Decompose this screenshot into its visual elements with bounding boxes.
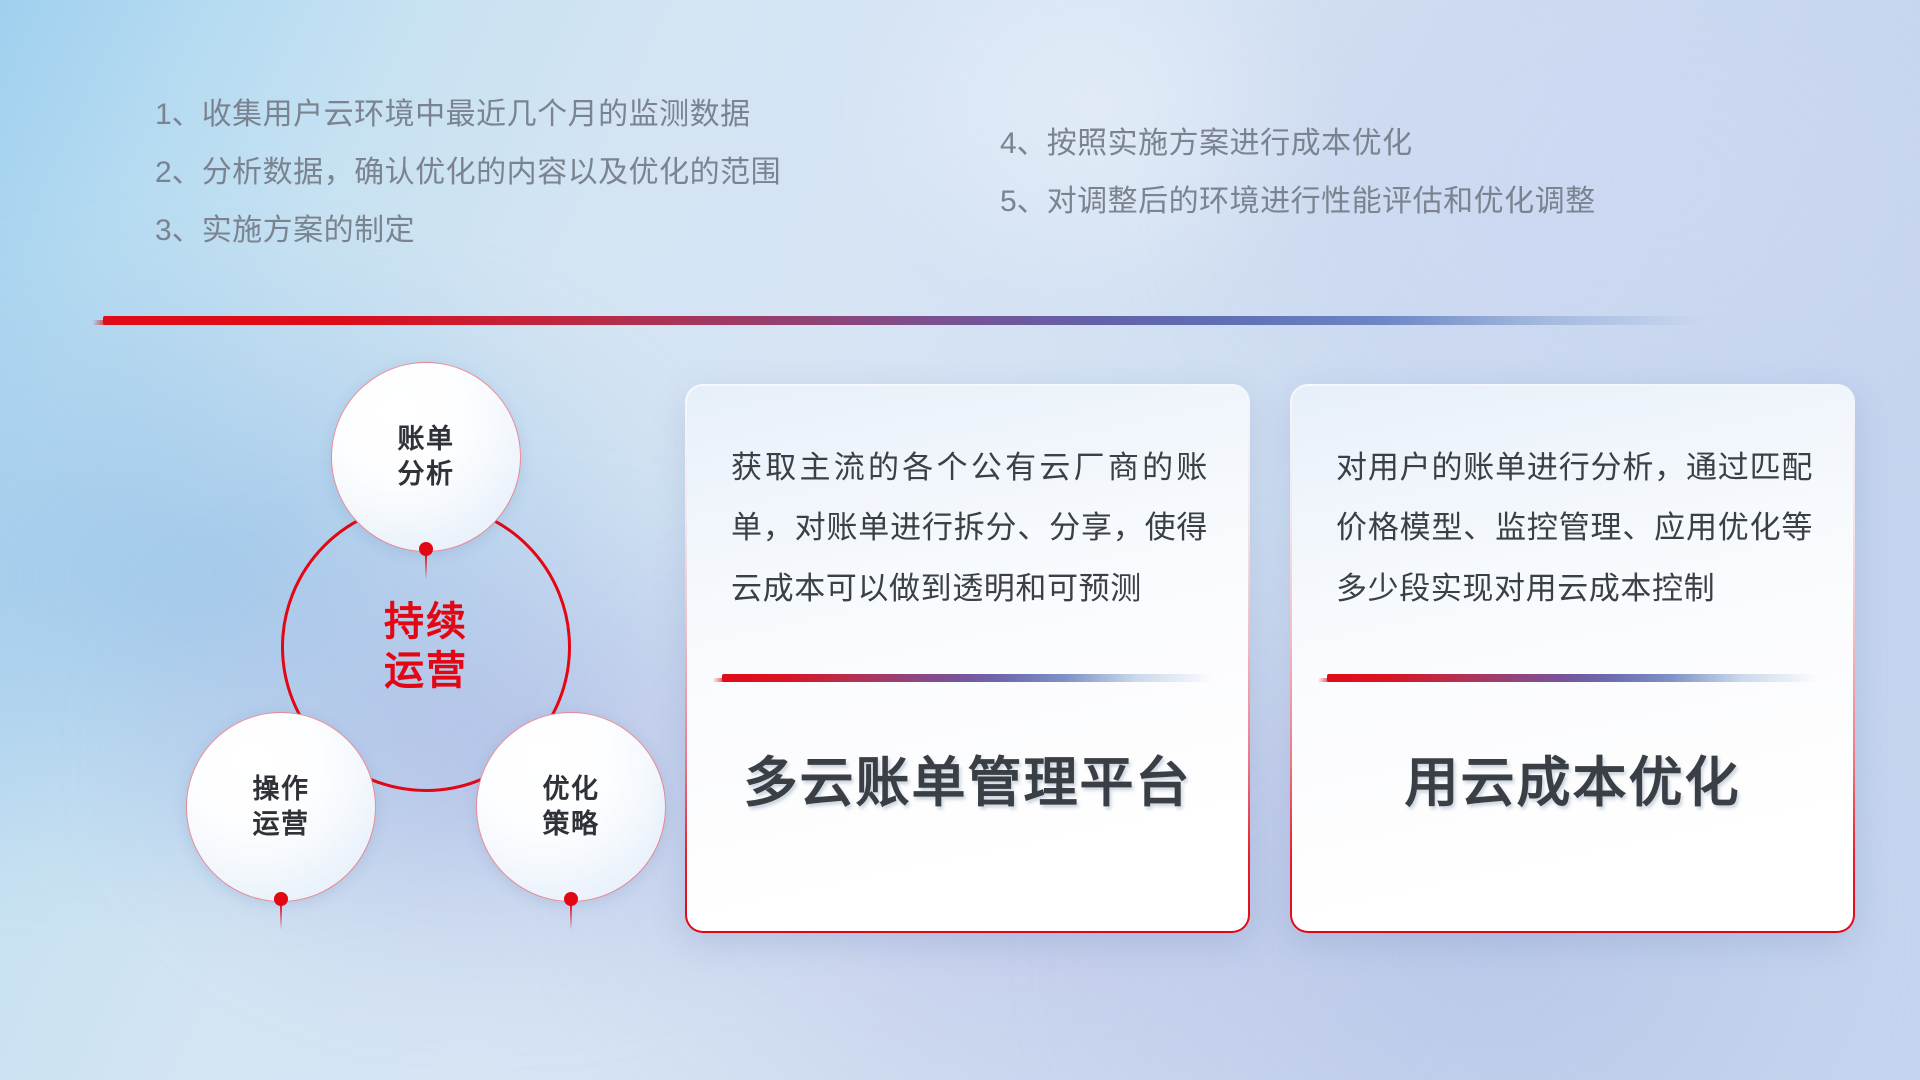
step-item-2: 2、分析数据，确认优化的内容以及优化的范围 <box>155 158 781 188</box>
card-1-body: 获取主流的各个公有云厂商的账单，对账单进行拆分、分享，使得云成本可以做到透明和可… <box>731 438 1208 619</box>
diagram-node-operations[interactable]: 操作 运营 <box>186 712 376 902</box>
step-number-1: 1、 <box>155 98 202 131</box>
diagram-node-billing-analysis-line2: 分析 <box>398 457 455 492</box>
card-1-divider-rule <box>722 674 1214 682</box>
card-cloud-cost-optimization[interactable]: 对用户的账单进行分析，通过匹配价格模型、监控管理、应用优化等多少段实现对用云成本… <box>1290 384 1855 933</box>
step-text-4: 按照实施方案进行成本优化 <box>1047 127 1413 160</box>
diagram-node-billing-analysis-line1: 账单 <box>398 422 455 457</box>
diagram-node-operations-line2: 运营 <box>253 807 310 842</box>
step-number-3: 3、 <box>155 214 202 247</box>
diagram-connector-dot-top-icon <box>419 542 433 556</box>
step-text-5: 对调整后的环境进行性能评估和优化调整 <box>1047 185 1596 218</box>
diagram-node-billing-analysis[interactable]: 账单 分析 <box>331 362 521 552</box>
diagram-node-operations-line1: 操作 <box>253 772 310 807</box>
step-text-2: 分析数据，确认优化的内容以及优化的范围 <box>202 156 782 189</box>
card-2-inner: 对用户的账单进行分析，通过匹配价格模型、监控管理、应用优化等多少段实现对用云成本… <box>1292 386 1853 931</box>
diagram-node-optimization-strategy-line1: 优化 <box>543 772 600 807</box>
step-text-1: 收集用户云环境中最近几个月的监测数据 <box>202 98 751 131</box>
center-ring-label-line1: 持续 <box>384 598 468 647</box>
card-2-divider-rule <box>1327 674 1819 682</box>
center-ring-label-line2: 运营 <box>384 647 468 696</box>
steps-section: 1、收集用户云环境中最近几个月的监测数据 2、分析数据，确认优化的内容以及优化的… <box>0 100 1920 290</box>
step-item-1: 1、收集用户云环境中最近几个月的监测数据 <box>155 100 751 130</box>
step-text-3: 实施方案的制定 <box>202 214 416 247</box>
step-number-5: 5、 <box>1000 185 1047 218</box>
step-item-3: 3、实施方案的制定 <box>155 216 415 246</box>
step-item-4: 4、按照实施方案进行成本优化 <box>1000 129 1413 159</box>
step-number-2: 2、 <box>155 156 202 189</box>
step-item-5: 5、对调整后的环境进行性能评估和优化调整 <box>1000 187 1596 217</box>
step-number-4: 4、 <box>1000 127 1047 160</box>
card-multi-cloud-billing-platform[interactable]: 获取主流的各个公有云厂商的账单，对账单进行拆分、分享，使得云成本可以做到透明和可… <box>685 384 1250 933</box>
continuous-operations-diagram: 持续 运营 账单 分析 操作 运营 优化 策略 <box>100 352 660 952</box>
card-1-inner: 获取主流的各个公有云厂商的账单，对账单进行拆分、分享，使得云成本可以做到透明和可… <box>687 386 1248 931</box>
card-1-title: 多云账单管理平台 <box>687 738 1248 817</box>
diagram-node-optimization-strategy[interactable]: 优化 策略 <box>476 712 666 902</box>
diagram-node-optimization-strategy-line2: 策略 <box>543 807 600 842</box>
card-2-body: 对用户的账单进行分析，通过匹配价格模型、监控管理、应用优化等多少段实现对用云成本… <box>1336 438 1813 619</box>
diagram-connector-dot-right-icon <box>564 892 578 906</box>
diagram-connector-dot-left-icon <box>274 892 288 906</box>
card-2-title: 用云成本优化 <box>1292 738 1853 817</box>
section-divider-rule <box>103 316 1703 325</box>
